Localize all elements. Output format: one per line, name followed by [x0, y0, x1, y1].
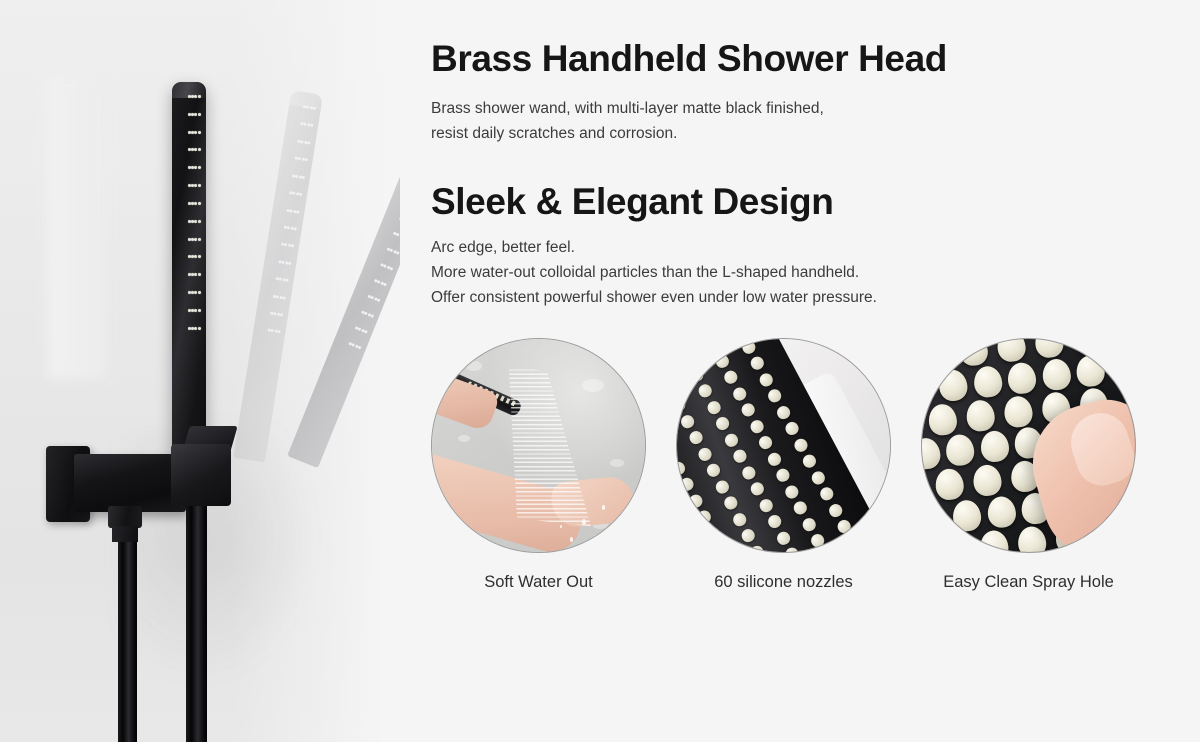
- background-wall-panel: [48, 78, 106, 378]
- nozzle-dot: [198, 131, 201, 134]
- silicone-nozzle: [934, 468, 965, 502]
- nozzle-row: [187, 131, 201, 134]
- silicone-nozzle: [921, 437, 942, 471]
- water-droplet: [594, 535, 597, 540]
- silicone-nozzle: [1016, 525, 1047, 553]
- silicone-nozzle: [1071, 338, 1102, 355]
- nozzle-row: [386, 248, 399, 256]
- silicone-nozzle: [765, 513, 783, 531]
- silicone-nozzle: [783, 420, 801, 438]
- silicone-nozzle: [1003, 395, 1034, 429]
- silicone-nozzle: [996, 338, 1027, 363]
- nozzle-dot: [280, 313, 283, 316]
- silicone-nozzle: [972, 464, 1003, 498]
- nozzle-dot: [194, 220, 197, 223]
- feature-easy-clean-spray-hole: Easy Clean Spray Hole: [921, 338, 1136, 592]
- silicone-nozzle: [986, 495, 1017, 529]
- nozzle-dot: [288, 262, 291, 265]
- shower-riser-pipe: [186, 500, 207, 742]
- nozzle-dot: [282, 296, 285, 299]
- nozzle-dot: [304, 158, 307, 161]
- nozzle-dot: [194, 131, 197, 134]
- silicone-nozzle: [809, 469, 827, 487]
- nozzle-dot: [198, 327, 201, 330]
- silicone-nozzle: [676, 459, 687, 477]
- silicone-nozzle: [1041, 358, 1072, 392]
- nozzle-dot: [307, 141, 310, 144]
- silicone-nozzle: [740, 401, 758, 419]
- silicone-nozzle: [713, 541, 731, 553]
- nozzle-dot: [198, 202, 201, 205]
- silicone-nozzle: [1006, 361, 1037, 395]
- nozzle-row: [276, 277, 289, 282]
- silicone-nozzle: [687, 366, 705, 384]
- silicone-nozzle: [748, 543, 766, 553]
- nozzle-row: [187, 238, 201, 241]
- silicone-nozzle: [775, 404, 793, 422]
- nozzle-row: [278, 260, 291, 265]
- nozzle-row: [355, 326, 368, 334]
- nozzle-dot: [198, 95, 201, 98]
- nozzle-dot: [198, 309, 201, 312]
- silicone-nozzle: [965, 398, 996, 432]
- nozzle-row: [187, 184, 201, 187]
- section-1-line-1: Brass shower wand, with multi-layer matt…: [431, 96, 824, 121]
- silicone-nozzle: [921, 338, 951, 371]
- nozzle-row: [187, 148, 201, 151]
- silicone-nozzle: [1034, 338, 1065, 359]
- product-photo: [0, 0, 400, 742]
- nozzle-dot: [194, 148, 197, 151]
- feature-caption: Soft Water Out: [484, 573, 593, 592]
- silicone-nozzle: [696, 445, 714, 463]
- nozzle-dot: [194, 202, 197, 205]
- nozzle-dot: [302, 175, 305, 178]
- nozzle-dot: [310, 124, 313, 127]
- section-1-title: Brass Handheld Shower Head: [431, 40, 947, 77]
- nozzle-row: [300, 122, 313, 127]
- wall-speck: [466, 361, 482, 371]
- nozzle-row: [187, 255, 201, 258]
- silicone-nozzle: [731, 385, 749, 403]
- nozzle-dot: [194, 238, 197, 241]
- section-2-line-2: More water-out colloidal particles than …: [431, 260, 877, 285]
- water-droplet: [560, 525, 562, 528]
- silicone-nozzle: [705, 462, 723, 480]
- silicone-nozzle: [748, 480, 766, 498]
- nozzle-dot: [198, 255, 201, 258]
- nozzle-row: [348, 342, 361, 350]
- silicone-nozzle: [757, 497, 775, 515]
- shower-hose-pipe: [118, 525, 137, 742]
- silicone-nozzle: [676, 443, 679, 461]
- silicone-nozzle: [739, 527, 757, 545]
- section-2-line-1: Arc edge, better feel.: [431, 235, 877, 260]
- nozzle-row: [187, 327, 201, 330]
- nozzle-dot: [293, 227, 296, 230]
- nozzle-dot: [299, 193, 302, 196]
- silicone-nozzle: [958, 338, 989, 367]
- nozzle-row: [399, 216, 400, 224]
- silicone-nozzle: [792, 499, 810, 517]
- silicone-nozzle: [696, 383, 714, 401]
- silicone-nozzle: [921, 537, 934, 553]
- silicone-nozzle: [945, 434, 976, 468]
- silicone-nozzle: [792, 436, 810, 454]
- silicone-nozzle: [740, 338, 758, 356]
- silicone-nozzle: [757, 371, 775, 389]
- silicone-nozzle: [941, 533, 972, 553]
- silicone-nozzle: [800, 515, 818, 533]
- silicone-nozzle: [921, 503, 949, 537]
- silicone-nozzle: [713, 415, 731, 433]
- silicone-nozzle: [783, 483, 801, 501]
- nozzle-row: [187, 202, 201, 205]
- nozzle-dot: [198, 220, 201, 223]
- nozzle-dot: [285, 279, 288, 282]
- silicone-nozzle: [704, 525, 722, 543]
- nozzle-row: [281, 243, 294, 248]
- hose-collar-lower: [112, 526, 138, 542]
- nozzle-dot: [198, 238, 201, 241]
- silicone-nozzle: [749, 355, 767, 373]
- silicone-nozzle: [979, 430, 1010, 464]
- nozzle-dot: [399, 234, 400, 238]
- silicone-nozzle: [713, 478, 731, 496]
- silicone-nozzle: [774, 466, 792, 484]
- silicone-nozzle: [921, 372, 935, 406]
- silicone-nozzle: [927, 402, 958, 436]
- section-1-description: Brass shower wand, with multi-layer matt…: [431, 96, 824, 146]
- feature-caption: 60 silicone nozzles: [714, 573, 853, 592]
- section-2-line-3: Offer consistent powerful shower even un…: [431, 285, 877, 310]
- nozzle-row: [297, 140, 310, 145]
- silicone-nozzle: [676, 380, 679, 398]
- bracket-arm: [74, 454, 186, 512]
- nozzle-row: [187, 309, 201, 312]
- nozzle-dot: [198, 113, 201, 116]
- nozzle-dot: [194, 166, 197, 169]
- nozzle-row: [284, 226, 297, 231]
- feature-circles-row: Soft Water Out 60 silicone nozzles: [431, 338, 1200, 592]
- silicone-nozzle: [774, 529, 792, 547]
- nozzle-row: [287, 208, 300, 213]
- silicone-nozzle: [679, 413, 697, 431]
- nozzle-dot: [296, 210, 299, 213]
- nozzle-dot: [194, 273, 197, 276]
- hose-collar: [108, 506, 142, 528]
- nozzle-dot: [198, 166, 201, 169]
- section-1-line-2: resist daily scratches and corrosion.: [431, 121, 824, 146]
- nozzle-dot: [399, 216, 400, 220]
- nozzle-row: [367, 295, 380, 303]
- silicone-nozzle: [678, 476, 696, 494]
- nozzle-row: [380, 263, 393, 271]
- content-column: Brass Handheld Shower Head Brass shower …: [431, 0, 1200, 742]
- silicone-nozzle: [731, 511, 749, 529]
- water-droplet: [570, 537, 573, 542]
- nozzle-dot: [194, 291, 197, 294]
- silicone-nozzle: [783, 546, 801, 553]
- feature-soft-water-out: Soft Water Out: [431, 338, 646, 592]
- silicone-nozzle: [921, 472, 927, 506]
- nozzle-row: [187, 166, 201, 169]
- nozzle-row: [393, 232, 400, 240]
- nozzle-dot: [194, 255, 197, 258]
- silicone-nozzle: [766, 450, 784, 468]
- silicone-nozzle: [827, 501, 845, 519]
- nozzle-dot: [198, 291, 201, 294]
- nozzle-row: [295, 157, 308, 162]
- section-2-title: Sleek & Elegant Design: [431, 183, 833, 220]
- nozzle-dot: [198, 184, 201, 187]
- bracket-holder: [171, 444, 231, 506]
- silicone-nozzle: [766, 387, 784, 405]
- silicone-nozzle: [1075, 354, 1106, 388]
- nozzle-dot: [194, 184, 197, 187]
- feature-image-hand-spraying-water: [431, 338, 646, 553]
- silicone-nozzle: [714, 352, 732, 370]
- nozzle-dot: [198, 148, 201, 151]
- nozzle-row: [270, 312, 283, 317]
- nozzle-row: [187, 273, 201, 276]
- water-droplet: [602, 505, 605, 510]
- nozzle-row: [187, 291, 201, 294]
- nozzle-row: [273, 294, 286, 299]
- nozzle-row: [361, 310, 374, 318]
- nozzle-dot: [194, 327, 197, 330]
- water-droplet: [588, 545, 591, 550]
- silicone-nozzle: [676, 397, 687, 415]
- silicone-nozzle: [835, 518, 853, 536]
- nozzle-row: [267, 329, 280, 334]
- silicone-nozzle: [748, 418, 766, 436]
- nozzle-dot: [277, 330, 280, 333]
- silicone-nozzle: [818, 485, 836, 503]
- nozzle-row: [303, 105, 316, 110]
- black-handheld-wand: [172, 82, 206, 462]
- silicone-nozzle: [696, 508, 714, 526]
- silicone-nozzle: [687, 429, 705, 447]
- nozzle-row: [289, 191, 302, 196]
- silicone-nozzle: [722, 369, 740, 387]
- silicone-nozzle: [722, 432, 740, 450]
- silicone-nozzle: [757, 434, 775, 452]
- nozzle-dot: [291, 244, 294, 247]
- feature-image-nozzle-panel: [676, 338, 891, 553]
- nozzle-row: [187, 113, 201, 116]
- section-2-description: Arc edge, better feel. More water-out co…: [431, 235, 877, 310]
- silicone-nozzle: [687, 492, 705, 510]
- silicone-nozzle: [938, 368, 969, 402]
- silicone-nozzle: [801, 452, 819, 470]
- silicone-nozzle: [952, 499, 983, 533]
- silicone-nozzle: [731, 448, 749, 466]
- nozzle-dot: [194, 95, 197, 98]
- nozzle-row: [292, 174, 305, 179]
- silicone-nozzle: [722, 494, 740, 512]
- nozzle-dot: [194, 309, 197, 312]
- nozzle-row: [187, 95, 201, 98]
- nozzle-row: [374, 279, 387, 287]
- silicone-nozzle: [809, 532, 827, 550]
- nozzle-dot: [194, 113, 197, 116]
- feature-image-thumb-wiping-nozzles: [921, 338, 1136, 553]
- nozzle-row: [187, 220, 201, 223]
- feature-60-silicone-nozzles: 60 silicone nozzles: [676, 338, 891, 592]
- silicone-nozzle: [739, 464, 757, 482]
- silicone-nozzle: [979, 529, 1010, 553]
- water-droplet: [582, 519, 586, 525]
- silicone-nozzle: [972, 365, 1003, 399]
- nozzle-dot: [198, 273, 201, 276]
- silicone-nozzle: [705, 399, 723, 417]
- feature-caption: Easy Clean Spray Hole: [943, 573, 1114, 592]
- nozzle-dot: [312, 107, 315, 110]
